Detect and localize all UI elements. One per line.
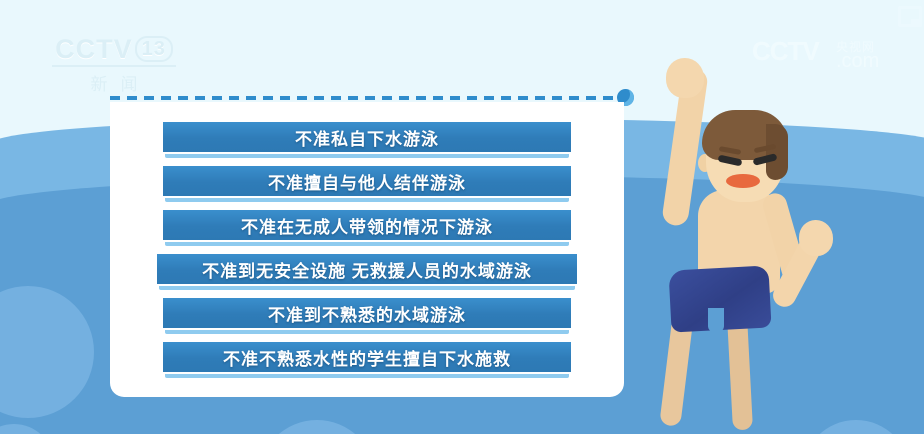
rule-text: 不准在无成人带领的情况下游泳 bbox=[241, 213, 493, 238]
hair-side bbox=[766, 124, 788, 180]
channel-logo-text: CCTV bbox=[55, 34, 133, 64]
list-item: 不准私自下水游泳 bbox=[161, 120, 573, 154]
rule-text: 不准私自下水游泳 bbox=[295, 125, 439, 150]
list-item: 不准不熟悉水性的学生擅自下水施救 bbox=[161, 340, 573, 374]
rule-bar: 不准擅自与他人结伴游泳 bbox=[161, 164, 573, 198]
rule-text: 不准擅自与他人结伴游泳 bbox=[268, 169, 466, 194]
raised-fist bbox=[666, 58, 704, 98]
rule-text: 不准不熟悉水性的学生擅自下水施救 bbox=[223, 345, 511, 370]
list-item: 不准到不熟悉的水域游泳 bbox=[161, 296, 573, 330]
channel-logo-subtitle: 新闻 bbox=[48, 70, 180, 95]
safety-rules-list: 不准私自下水游泳 不准擅自与他人结伴游泳 不准在无成人带领的情况下游泳 不准到无… bbox=[110, 120, 624, 384]
rule-bar: 不准在无成人带领的情况下游泳 bbox=[161, 208, 573, 242]
channel-logo-divider bbox=[52, 65, 176, 67]
right-fist bbox=[799, 220, 833, 256]
swim-shorts-notch bbox=[708, 308, 724, 332]
rule-bar: 不准到不熟悉的水域游泳 bbox=[161, 296, 573, 330]
rule-bar: 不准私自下水游泳 bbox=[161, 120, 573, 154]
drowning-boy-illustration bbox=[636, 62, 886, 434]
rule-bar: 不准到无安全设施 无救援人员的水域游泳 bbox=[155, 252, 579, 286]
list-item: 不准到无安全设施 无救援人员的水域游泳 bbox=[155, 252, 579, 286]
mouth bbox=[726, 174, 760, 188]
rule-bar: 不准不熟悉水性的学生擅自下水施救 bbox=[161, 340, 573, 374]
rule-text: 不准到不熟悉的水域游泳 bbox=[268, 301, 466, 326]
channel-logo-mark: CCTV13 bbox=[48, 36, 180, 63]
screen-icon bbox=[898, 6, 922, 27]
right-leg bbox=[727, 316, 753, 431]
dashed-connector-line bbox=[110, 96, 618, 100]
channel-logo: CCTV13 新闻 bbox=[48, 36, 180, 95]
channel-logo-number: 13 bbox=[135, 36, 173, 62]
list-item: 不准擅自与他人结伴游泳 bbox=[161, 164, 573, 198]
rule-text: 不准到无安全设施 无救援人员的水域游泳 bbox=[202, 257, 532, 282]
broadcast-frame: CCTV13 新闻 CCTV 央视网 .com 不准私自下水游泳 不准擅自与他人… bbox=[0, 0, 924, 434]
list-item: 不准在无成人带领的情况下游泳 bbox=[161, 208, 573, 242]
